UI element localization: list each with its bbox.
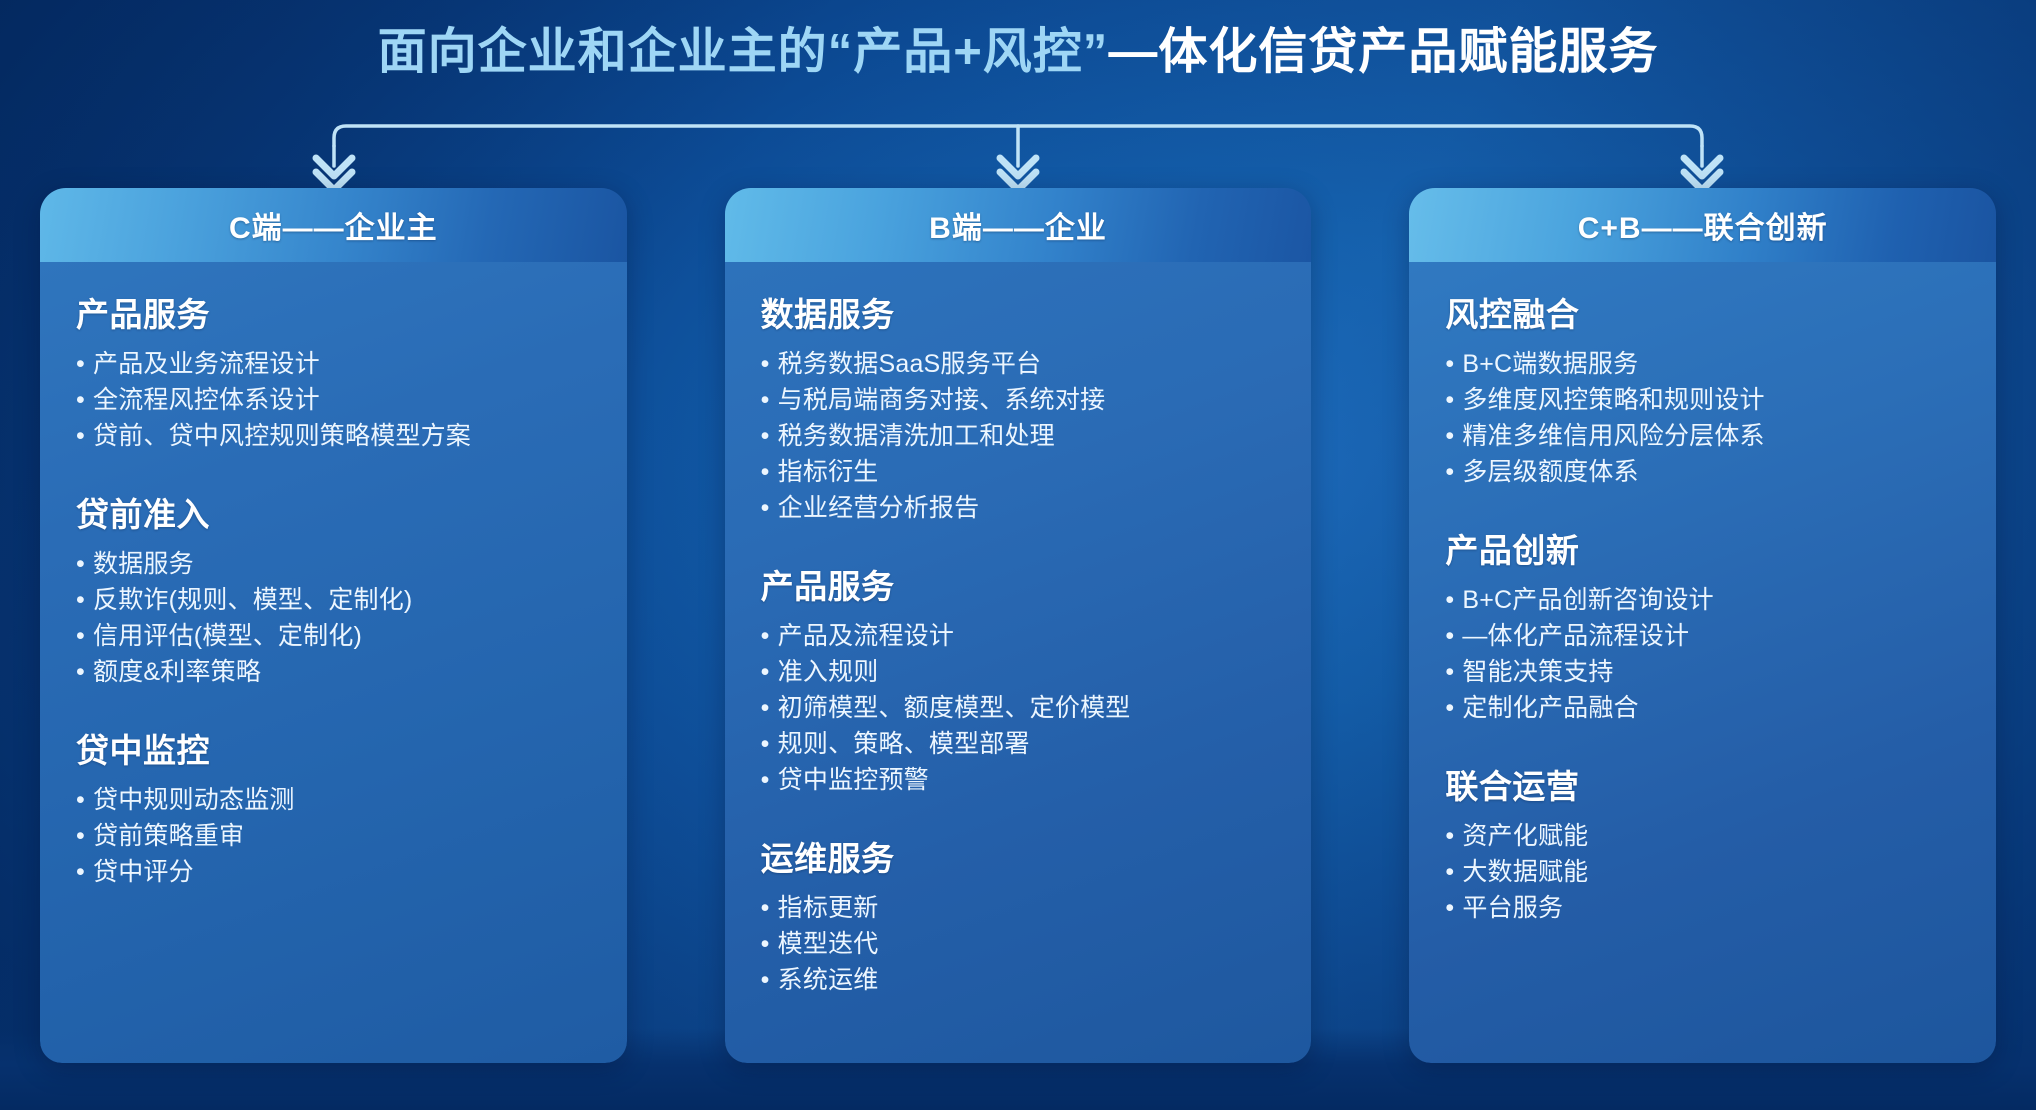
list-item: 产品及业务流程设计 bbox=[76, 346, 591, 382]
page-title: 面向企业和企业主的“产品+风控”—体化信贷产品赋能服务 bbox=[0, 22, 2036, 82]
section-product-service: 产品服务 产品及业务流程设计 全流程风控体系设计 贷前、贷中风控规则策略模型方案 bbox=[76, 288, 591, 454]
list-item: 大数据赋能 bbox=[1445, 854, 1960, 890]
list-item: 额度&利率策略 bbox=[76, 654, 591, 690]
list-item: 指标衍生 bbox=[761, 454, 1276, 490]
section-title: 产品服务 bbox=[76, 288, 591, 336]
cards-row: C端——企业主 产品服务 产品及业务流程设计 全流程风控体系设计 贷前、贷中风控… bbox=[0, 188, 2036, 1063]
card-header-b-end: B端——企业 bbox=[725, 188, 1312, 262]
page-title-part3: —体化信贷产品赋能服务 bbox=[1108, 25, 1658, 79]
list-item: 数据服务 bbox=[76, 546, 591, 582]
list-item: 贷前、贷中风控规则策略模型方案 bbox=[76, 418, 591, 454]
bullet-list: 数据服务 反欺诈(规则、模型、定制化) 信用评估(模型、定制化) 额度&利率策略 bbox=[76, 546, 591, 690]
section-product-innovation: 产品创新 B+C产品创新咨询设计 —体化产品流程设计 智能决策支持 定制化产品融… bbox=[1445, 524, 1960, 726]
list-item: 系统运维 bbox=[761, 962, 1276, 998]
section-title: 运维服务 bbox=[761, 832, 1276, 880]
list-item: 产品及流程设计 bbox=[761, 618, 1276, 654]
section-pre-loan-access: 贷前准入 数据服务 反欺诈(规则、模型、定制化) 信用评估(模型、定制化) 额度… bbox=[76, 488, 591, 690]
list-item: 准入规则 bbox=[761, 654, 1276, 690]
bullet-list: 贷中规则动态监测 贷前策略重审 贷中评分 bbox=[76, 782, 591, 890]
list-item: 精准多维信用风险分层体系 bbox=[1445, 418, 1960, 454]
list-item: 指标更新 bbox=[761, 890, 1276, 926]
list-item: 税务数据SaaS服务平台 bbox=[761, 346, 1276, 382]
list-item: 初筛模型、额度模型、定价模型 bbox=[761, 690, 1276, 726]
list-item: 贷中规则动态监测 bbox=[76, 782, 591, 818]
bullet-list: 产品及流程设计 准入规则 初筛模型、额度模型、定价模型 规则、策略、模型部署 贷… bbox=[761, 618, 1276, 798]
page-title-part2: “产品+风控” bbox=[828, 25, 1109, 79]
section-ops-service: 运维服务 指标更新 模型迭代 系统运维 bbox=[761, 832, 1276, 998]
list-item: 模型迭代 bbox=[761, 926, 1276, 962]
list-item: 贷中监控预警 bbox=[761, 762, 1276, 798]
list-item: 税务数据清洗加工和处理 bbox=[761, 418, 1276, 454]
section-title: 产品服务 bbox=[761, 560, 1276, 608]
section-title: 产品创新 bbox=[1445, 524, 1960, 572]
list-item: 企业经营分析报告 bbox=[761, 490, 1276, 526]
section-title: 数据服务 bbox=[761, 288, 1276, 336]
list-item: 反欺诈(规则、模型、定制化) bbox=[76, 582, 591, 618]
list-item: 贷前策略重审 bbox=[76, 818, 591, 854]
card-c-end[interactable]: C端——企业主 产品服务 产品及业务流程设计 全流程风控体系设计 贷前、贷中风控… bbox=[40, 188, 627, 1063]
list-item: 平台服务 bbox=[1445, 890, 1960, 926]
bullet-list: 税务数据SaaS服务平台 与税局端商务对接、系统对接 税务数据清洗加工和处理 指… bbox=[761, 346, 1276, 526]
section-title: 风控融合 bbox=[1445, 288, 1960, 336]
bullet-list: 指标更新 模型迭代 系统运维 bbox=[761, 890, 1276, 998]
list-item: 资产化赋能 bbox=[1445, 818, 1960, 854]
section-product-service: 产品服务 产品及流程设计 准入规则 初筛模型、额度模型、定价模型 规则、策略、模… bbox=[761, 560, 1276, 798]
connector-bracket bbox=[0, 108, 2036, 190]
bullet-list: 资产化赋能 大数据赋能 平台服务 bbox=[1445, 818, 1960, 926]
bullet-list: 产品及业务流程设计 全流程风控体系设计 贷前、贷中风控规则策略模型方案 bbox=[76, 346, 591, 454]
page-title-part1: 面向企业和企业主的 bbox=[378, 25, 828, 79]
bullet-list: B+C端数据服务 多维度风控策略和规则设计 精准多维信用风险分层体系 多层级额度… bbox=[1445, 346, 1960, 490]
list-item: 与税局端商务对接、系统对接 bbox=[761, 382, 1276, 418]
list-item: 智能决策支持 bbox=[1445, 654, 1960, 690]
list-item: 多层级额度体系 bbox=[1445, 454, 1960, 490]
card-body-c-plus-b: 风控融合 B+C端数据服务 多维度风控策略和规则设计 精准多维信用风险分层体系 … bbox=[1409, 262, 1996, 1063]
section-title: 贷前准入 bbox=[76, 488, 591, 536]
card-body-b-end: 数据服务 税务数据SaaS服务平台 与税局端商务对接、系统对接 税务数据清洗加工… bbox=[725, 262, 1312, 1063]
card-header-c-end: C端——企业主 bbox=[40, 188, 627, 262]
section-title: 联合运营 bbox=[1445, 760, 1960, 808]
list-item: 信用评估(模型、定制化) bbox=[76, 618, 591, 654]
list-item: B+C端数据服务 bbox=[1445, 346, 1960, 382]
list-item: B+C产品创新咨询设计 bbox=[1445, 582, 1960, 618]
list-item: 多维度风控策略和规则设计 bbox=[1445, 382, 1960, 418]
card-c-plus-b[interactable]: C+B——联合创新 风控融合 B+C端数据服务 多维度风控策略和规则设计 精准多… bbox=[1409, 188, 1996, 1063]
section-joint-operation: 联合运营 资产化赋能 大数据赋能 平台服务 bbox=[1445, 760, 1960, 926]
card-b-end[interactable]: B端——企业 数据服务 税务数据SaaS服务平台 与税局端商务对接、系统对接 税… bbox=[725, 188, 1312, 1063]
list-item: 贷中评分 bbox=[76, 854, 591, 890]
list-item: 规则、策略、模型部署 bbox=[761, 726, 1276, 762]
section-title: 贷中监控 bbox=[76, 724, 591, 772]
card-body-c-end: 产品服务 产品及业务流程设计 全流程风控体系设计 贷前、贷中风控规则策略模型方案… bbox=[40, 262, 627, 1063]
list-item: —体化产品流程设计 bbox=[1445, 618, 1960, 654]
list-item: 定制化产品融合 bbox=[1445, 690, 1960, 726]
section-risk-fusion: 风控融合 B+C端数据服务 多维度风控策略和规则设计 精准多维信用风险分层体系 … bbox=[1445, 288, 1960, 490]
card-header-c-plus-b: C+B——联合创新 bbox=[1409, 188, 1996, 262]
section-in-loan-monitoring: 贷中监控 贷中规则动态监测 贷前策略重审 贷中评分 bbox=[76, 724, 591, 890]
bullet-list: B+C产品创新咨询设计 —体化产品流程设计 智能决策支持 定制化产品融合 bbox=[1445, 582, 1960, 726]
list-item: 全流程风控体系设计 bbox=[76, 382, 591, 418]
section-data-service: 数据服务 税务数据SaaS服务平台 与税局端商务对接、系统对接 税务数据清洗加工… bbox=[761, 288, 1276, 526]
